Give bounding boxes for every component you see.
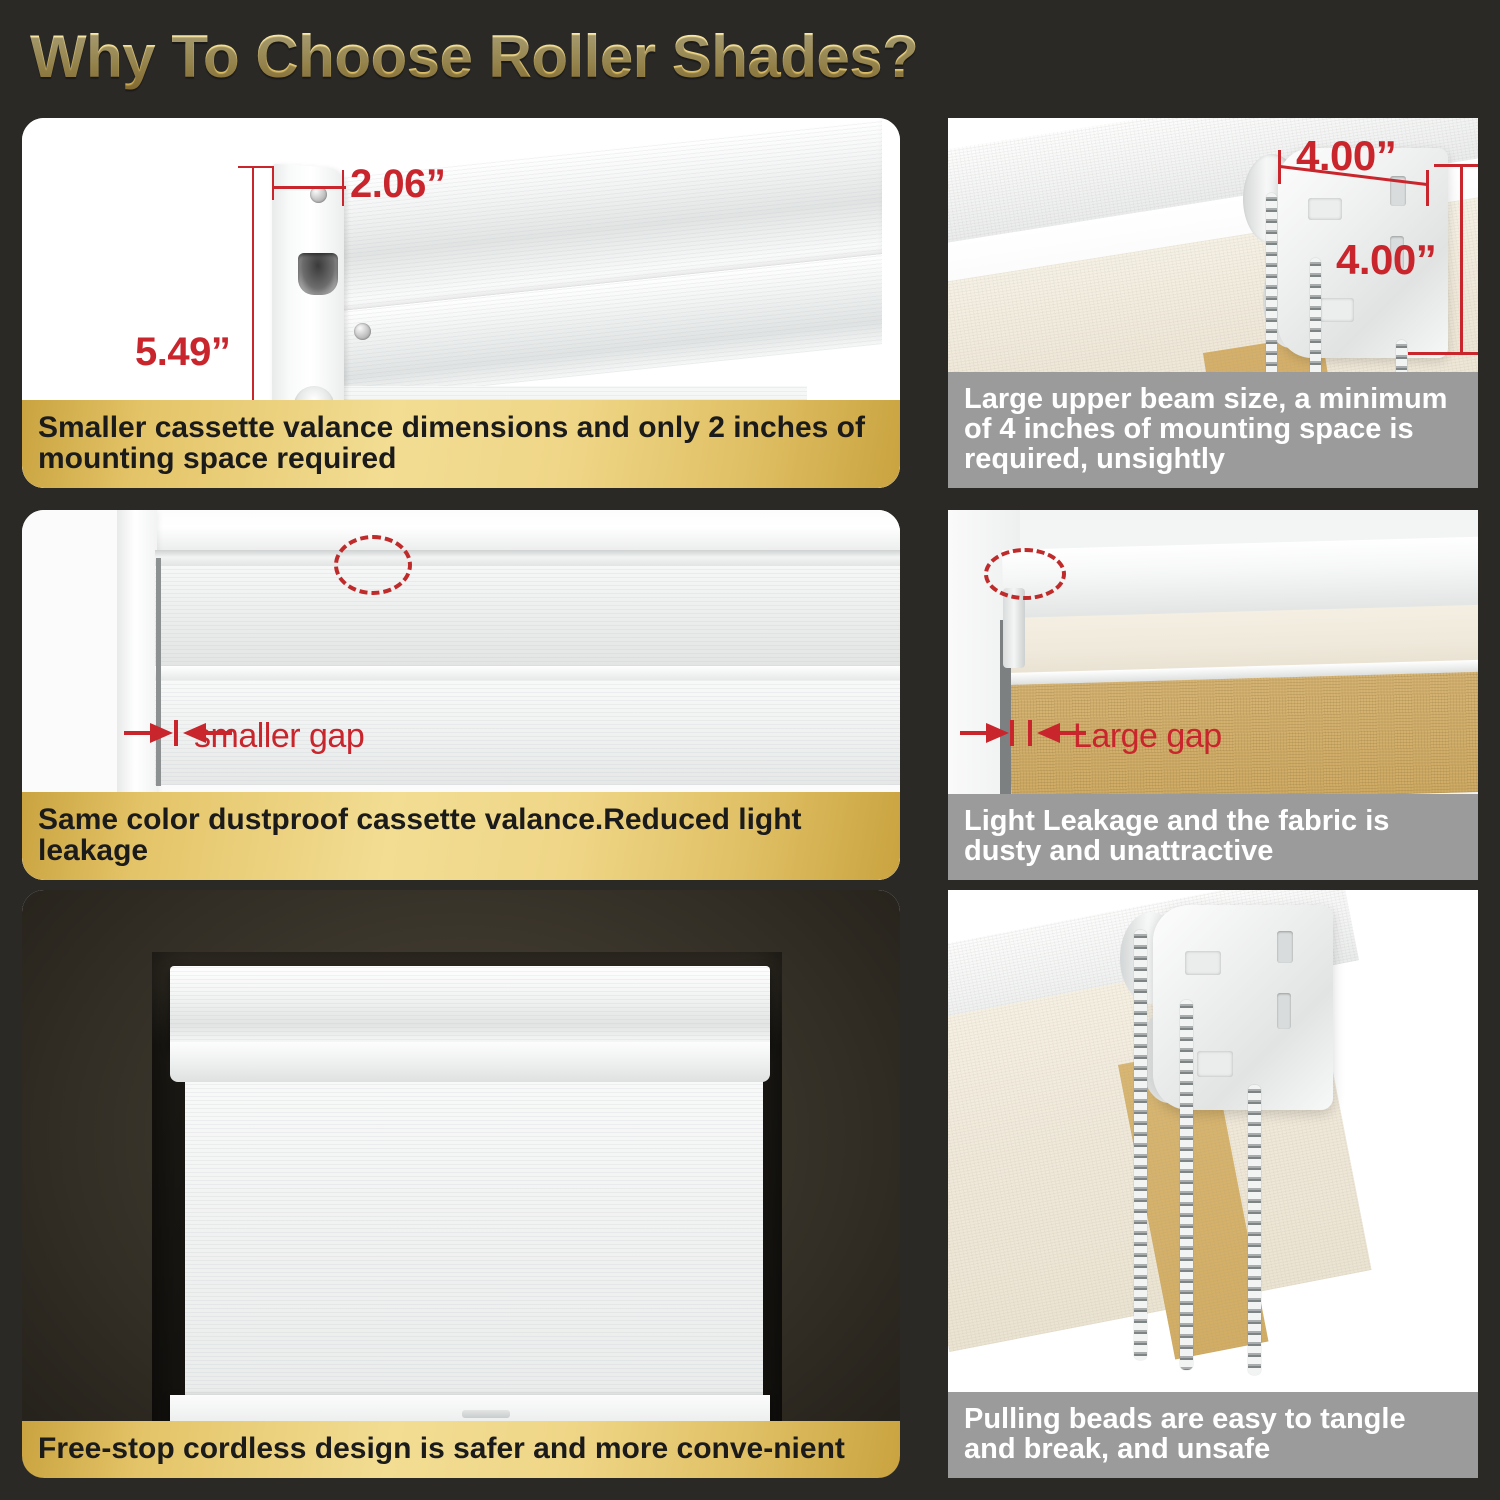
window-frame-side <box>117 510 157 810</box>
dim-tick-bottom <box>1408 352 1478 355</box>
bracket-slot <box>1277 931 1293 963</box>
panel-5-photo <box>22 890 900 1478</box>
shade-panel-upper <box>155 566 900 666</box>
bead-chain <box>1180 1000 1193 1370</box>
dim-tick-right <box>1426 170 1429 206</box>
bracket-emboss <box>1320 298 1354 322</box>
fabric-texture <box>155 566 900 666</box>
pull-tab <box>462 1410 510 1418</box>
infographic-root: Why To Choose Roller Shades? 2.06” 5.49”… <box>0 0 1500 1500</box>
valance-slot <box>298 253 338 295</box>
panel-6-pulling-beads: Pulling beads are easy to tangle and bre… <box>948 890 1478 1478</box>
fabric-texture <box>185 1080 763 1405</box>
panel-4-light-leakage: Large gap Light Leakage and the fabric i… <box>948 510 1478 880</box>
dim-tick-left <box>272 166 274 200</box>
shade-fabric <box>185 1080 763 1405</box>
bracket-slot <box>1277 993 1291 1029</box>
highlight-circle <box>984 548 1066 600</box>
bracket-emboss <box>1308 198 1342 220</box>
dim-line-height <box>1460 164 1463 354</box>
bracket-emboss <box>1185 951 1221 975</box>
bead-chain <box>1248 1085 1261 1375</box>
panel-6-caption: Pulling beads are easy to tangle and bre… <box>948 1392 1478 1478</box>
dim-tick-top <box>238 166 274 168</box>
panel-6-photo <box>948 890 1478 1478</box>
dim-line-height <box>252 166 254 438</box>
bead-chain <box>1134 930 1147 1360</box>
panel-1-smaller-cassette: 2.06” 5.49” Smaller cassette valance dim… <box>22 118 900 488</box>
dimension-label-width: 4.00” <box>1296 132 1396 180</box>
valance-lip <box>170 1042 770 1082</box>
dim-line-width <box>274 186 346 189</box>
bracket-emboss <box>1197 1051 1233 1077</box>
fabric-texture <box>170 966 770 1048</box>
panel-4-caption: Light Leakage and the fabric is dusty an… <box>948 794 1478 880</box>
gap-arrows-icon <box>958 715 1128 751</box>
cassette-valance <box>170 966 770 1048</box>
gap-arrows-icon <box>122 715 292 751</box>
shade-divider <box>155 666 900 680</box>
highlight-circle <box>334 535 412 595</box>
dimension-label-height: 4.00” <box>1336 236 1436 284</box>
panel-2-large-upper-beam: 4.00” 4.00” Large upper beam size, a min… <box>948 118 1478 488</box>
panel-5-caption: Free-stop cordless design is safer and m… <box>22 1421 900 1478</box>
page-title: Why To Choose Roller Shades? <box>30 22 918 91</box>
side-gap <box>156 558 161 786</box>
panel-2-caption: Large upper beam size, a minimum of 4 in… <box>948 372 1478 488</box>
bracket-clip <box>1003 588 1025 668</box>
panel-1-caption: Smaller cassette valance dimensions and … <box>22 400 900 488</box>
dimension-label-height: 5.49” <box>135 330 230 375</box>
panel-3-dustproof-valance: smaller gap Same color dustproof cassett… <box>22 510 900 880</box>
screw-icon <box>354 323 371 340</box>
dim-tick-top <box>1434 164 1478 167</box>
window-frame-top <box>117 510 900 552</box>
panel-3-caption: Same color dustproof cassette valance.Re… <box>22 792 900 880</box>
dimension-label-width: 2.06” <box>350 162 445 207</box>
panel-5-cordless-design: Free-stop cordless design is safer and m… <box>22 890 900 1478</box>
